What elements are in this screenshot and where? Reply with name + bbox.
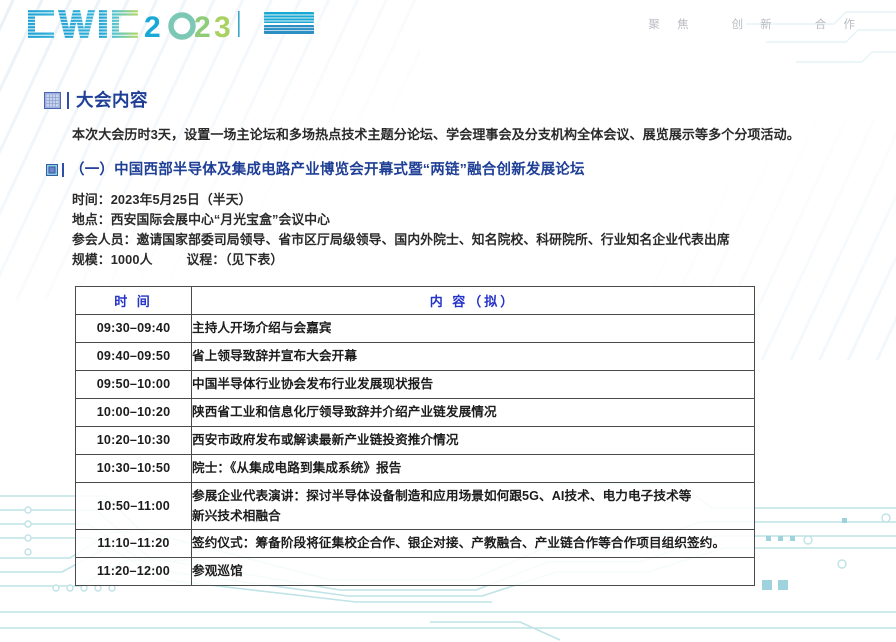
column-header-content: 内 容（拟） — [192, 286, 755, 314]
table-header-row: 时 间 内 容（拟） — [76, 286, 755, 314]
cell-content: 西安市政府发布或解读最新产业链投资推介情况 — [192, 426, 755, 454]
meta-label-venue: 地点： — [72, 212, 111, 227]
meta-label-attendees: 参会人员： — [72, 232, 136, 247]
top-navigation: 聚 焦 创 新 合 作 — [646, 16, 862, 32]
cell-content: 中国半导体行业协会发布行业发展现状报告 — [192, 370, 755, 398]
cell-content: 参展企业代表演讲：探讨半导体设备制造和应用场景如何跟5G、AI技术、电力电子技术… — [192, 482, 755, 529]
intro-paragraph: 本次大会历时3天，设置一场主论坛和多场热点技术主题分论坛、学会理事会及分支机构全… — [72, 125, 896, 145]
agenda-table-body: 09:30–09:40主持人开场介绍与会嘉宾09:40–09:50省上领导致辞并… — [76, 314, 755, 585]
cell-content: 参观巡馆 — [192, 557, 755, 585]
cell-time: 11:20–12:00 — [76, 557, 192, 585]
page-title: 大会内容 — [76, 92, 148, 110]
table-row: 10:00–10:20陕西省工业和信息化厅领导致辞并介绍产业链发展情况 — [76, 398, 755, 426]
cell-content: 陕西省工业和信息化厅领导致辞并介绍产业链发展情况 — [192, 398, 755, 426]
cell-time: 09:40–09:50 — [76, 342, 192, 370]
cell-time: 10:00–10:20 — [76, 398, 192, 426]
table-row: 10:30–10:50院士：《从集成电路到集成系统》报告 — [76, 454, 755, 482]
column-header-time: 时 间 — [76, 286, 192, 314]
subsection-title: （一）中国西部半导体及集成电路产业博览会开幕式暨“两链”融合创新发展论坛 — [70, 163, 585, 178]
meta-label-scale: 规模： — [72, 252, 111, 267]
heading-divider — [67, 92, 69, 109]
meta-row-scale: 规模：1000人议程：（见下表） — [72, 250, 896, 270]
subheading-divider — [62, 163, 64, 177]
table-row: 10:20–10:30西安市政府发布或解读最新产业链投资推介情况 — [76, 426, 755, 454]
meta-value-agenda: （见下表） — [225, 252, 283, 267]
cell-content: 签约仪式：筹备阶段将征集校企合作、银企对接、产教融合、产业链合作等合作项目组织签… — [192, 529, 755, 557]
table-row: 10:50–11:00参展企业代表演讲：探讨半导体设备制造和应用场景如何跟5G、… — [76, 482, 755, 529]
cell-content: 省上领导致辞并宣布大会开幕 — [192, 342, 755, 370]
agenda-table: 时 间 内 容（拟） 09:30–09:40主持人开场介绍与会嘉宾09:40–0… — [75, 286, 755, 586]
svg-text:3: 3 — [214, 11, 230, 41]
svg-text:2: 2 — [144, 11, 160, 41]
table-row: 09:40–09:50省上领导致辞并宣布大会开幕 — [76, 342, 755, 370]
cell-time: 10:20–10:30 — [76, 426, 192, 454]
meta-label-time: 时间： — [72, 192, 111, 207]
cell-time: 09:30–09:40 — [76, 314, 192, 342]
meta-label-agenda: 议程： — [186, 252, 225, 267]
meta-value-attendees: 邀请国家部委司局领导、省市区厅局级领导、国内外院士、知名院校、科研院所、行业知名… — [136, 232, 729, 247]
event-meta-list: 时间：2023年5月25日（半天） 地点：西安国际会展中心“月光宝盒”会议中心 … — [72, 190, 896, 270]
meta-value-venue: 西安国际会展中心“月光宝盒”会议中心 — [111, 212, 330, 227]
table-row: 09:50–10:00中国半导体行业协会发布行业发展现状报告 — [76, 370, 755, 398]
megs-partner-logo-icon — [262, 9, 322, 39]
nav-item-innovation[interactable]: 创 新 — [730, 16, 779, 32]
meta-row-venue: 地点：西安国际会展中心“月光宝盒”会议中心 — [72, 210, 896, 230]
cell-time: 10:30–10:50 — [76, 454, 192, 482]
cell-content: 主持人开场介绍与会嘉宾 — [192, 314, 755, 342]
cell-time: 10:50–11:00 — [76, 482, 192, 529]
meta-value-time: 2023年5月25日（半天） — [111, 192, 252, 207]
cell-time: 09:50–10:00 — [76, 370, 192, 398]
table-row: 09:30–09:40主持人开场介绍与会嘉宾 — [76, 314, 755, 342]
site-logo[interactable]: 2 2 3 CWIC 2023 麦格斯合展 — [24, 7, 322, 41]
subsection-heading: （一）中国西部半导体及集成电路产业博览会开幕式暨“两链”融合创新发展论坛 — [46, 163, 896, 178]
nav-item-focus[interactable]: 聚 焦 — [646, 16, 695, 32]
main-content: 大会内容 本次大会历时3天，设置一场主论坛和多场热点技术主题分论坛、学会理事会及… — [0, 48, 896, 586]
meta-row-time: 时间：2023年5月25日（半天） — [72, 190, 896, 210]
small-square-icon — [46, 164, 58, 176]
grid-square-icon — [44, 92, 61, 109]
table-row: 11:20–12:00参观巡馆 — [76, 557, 755, 585]
cwic-2023-logo-icon: 2 2 3 — [24, 7, 254, 41]
cell-content: 院士：《从集成电路到集成系统》报告 — [192, 454, 755, 482]
meta-row-attendees: 参会人员：邀请国家部委司局领导、省市区厅局级领导、国内外院士、知名院校、科研院所… — [72, 230, 896, 250]
nav-item-cooperation[interactable]: 合 作 — [813, 16, 862, 32]
cell-time: 11:10–11:20 — [76, 529, 192, 557]
meta-value-scale: 1000人 — [111, 252, 153, 267]
svg-text:2: 2 — [194, 11, 210, 41]
section-heading: 大会内容 — [44, 92, 896, 110]
page-header: 2 2 3 CWIC 2023 麦格斯合展 — [0, 0, 896, 48]
table-row: 11:10–11:20签约仪式：筹备阶段将征集校企合作、银企对接、产教融合、产业… — [76, 529, 755, 557]
